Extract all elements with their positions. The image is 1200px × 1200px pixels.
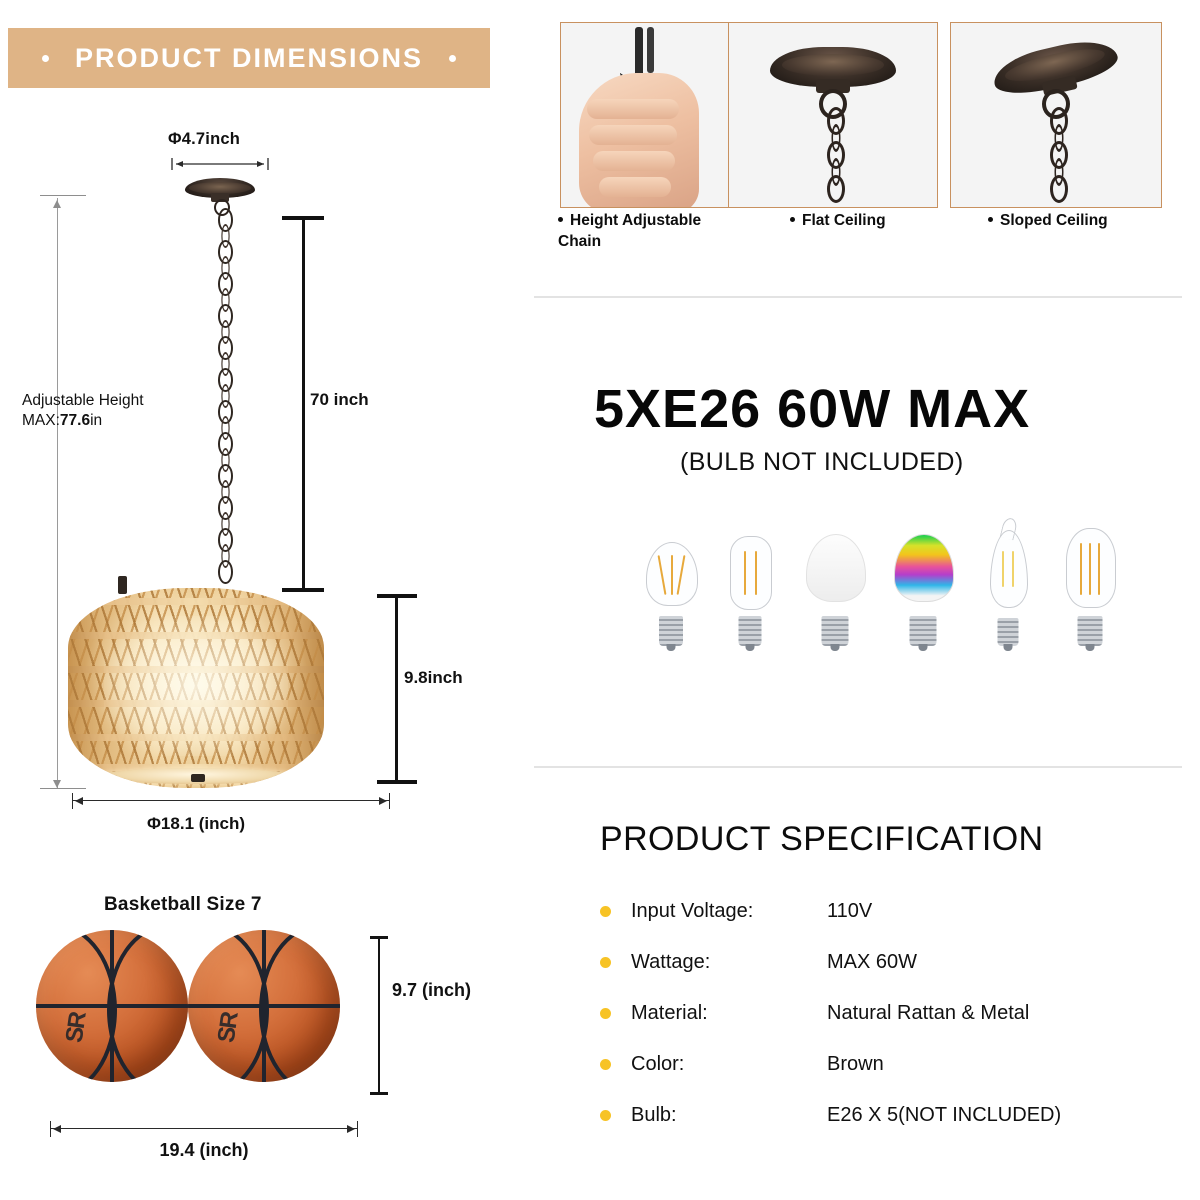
- hand-icon: [579, 73, 699, 208]
- bullet-dot-icon: [558, 217, 563, 222]
- adjustable-height-label: Adjustable Height: [22, 392, 144, 410]
- spec-value: E26 X 5(NOT INCLUDED): [827, 1104, 1061, 1127]
- ceiling-plate-icon: [770, 47, 896, 93]
- hanging-chain: [210, 208, 238, 590]
- divider-top: [534, 296, 1182, 298]
- adjustable-height-arrow-down: [53, 780, 61, 788]
- install-caption-sloped-ceiling: Sloped Ceiling: [988, 210, 1108, 231]
- spec-value: Natural Rattan & Metal: [827, 1002, 1029, 1025]
- shade-diameter-dimension: [72, 800, 390, 802]
- basketball-width-label: 19.4 (inch): [159, 1140, 248, 1161]
- install-caption-text: Flat Ceiling: [802, 212, 886, 229]
- adjustable-height-cap-bottom: [40, 788, 86, 789]
- bullet-dot-icon: [988, 217, 993, 222]
- st64-edison-bulb-icon: [1066, 528, 1114, 646]
- banner-title: PRODUCT DIMENSIONS: [75, 43, 423, 74]
- basketball-brand-mark: SR: [213, 1011, 245, 1044]
- adj-max-prefix: MAX:: [22, 412, 60, 429]
- install-caption-height-adjustable-chain: Height Adjustable Chain: [558, 210, 738, 252]
- right-column: Height Adjustable Chain Flat Ceiling Slo…: [520, 0, 1200, 1200]
- basketball-height-dimension-line: [378, 938, 380, 1094]
- rgb-smart-bulb-icon: [894, 534, 952, 646]
- dimensions-panel: PRODUCT DIMENSIONS Φ4.7inch: [0, 0, 520, 1200]
- spec-value: MAX 60W: [827, 951, 917, 974]
- product-dimensions-banner: PRODUCT DIMENSIONS: [8, 28, 490, 88]
- bullet-dot-icon: [600, 906, 611, 917]
- shade-height-dimension-line: [395, 596, 398, 782]
- adjustable-height-guide-line: [57, 198, 58, 788]
- spec-key: Color:: [631, 1053, 827, 1076]
- product-specification-title: PRODUCT SPECIFICATION: [600, 820, 1044, 859]
- drop-height-dimension-line: [302, 218, 305, 590]
- bullet-dot-icon: [600, 1059, 611, 1070]
- install-card-sloped-ceiling: [950, 22, 1162, 208]
- shade-body: [68, 588, 324, 788]
- install-caption-flat-ceiling: Flat Ceiling: [790, 210, 886, 231]
- drop-height-label: 70 inch: [310, 390, 369, 410]
- adj-max-value: 77.6: [60, 412, 90, 429]
- product-infographic: PRODUCT DIMENSIONS Φ4.7inch: [0, 0, 1200, 1200]
- adjustable-height-arrow-up: [53, 200, 61, 208]
- bulb-headline: 5XE26 60W MAX: [594, 378, 1030, 440]
- spec-row: Material: Natural Rattan & Metal: [600, 988, 1160, 1039]
- adjustable-height-cap-top: [40, 195, 86, 196]
- bullet-dot-icon: [790, 217, 795, 222]
- a19-filament-bulb-icon: [646, 542, 696, 646]
- basketball-width-dimension: [50, 1128, 358, 1130]
- bullet-dot-icon: [600, 957, 611, 968]
- spec-key: Material:: [631, 1002, 827, 1025]
- install-card-flat-ceiling: [728, 22, 938, 208]
- product-specification-list: Input Voltage: 110V Wattage: MAX 60W Mat…: [600, 886, 1160, 1141]
- rattan-shade: [68, 588, 324, 788]
- card-chain-icon: [822, 107, 844, 203]
- spec-key: Bulb:: [631, 1104, 827, 1127]
- basketball: SR: [188, 930, 340, 1082]
- banner-dot-left: [42, 55, 49, 62]
- bulb-subheadline: (BULB NOT INCLUDED): [680, 448, 964, 477]
- spec-row: Wattage: MAX 60W: [600, 937, 1160, 988]
- basketball-height-cap-top: [370, 936, 388, 939]
- shade-diameter-label: Φ18.1 (inch): [147, 814, 245, 834]
- shade-height-label: 9.8inch: [404, 668, 463, 688]
- spec-key: Input Voltage:: [631, 900, 827, 923]
- basketball-title: Basketball Size 7: [104, 894, 262, 916]
- spec-key: Wattage:: [631, 951, 827, 974]
- install-caption-text: Sloped Ceiling: [1000, 212, 1108, 229]
- drop-height-cap-bottom: [282, 588, 324, 592]
- bullet-dot-icon: [600, 1008, 611, 1019]
- spec-value: Brown: [827, 1053, 884, 1076]
- install-card-height-adjustable-chain: [560, 22, 748, 208]
- basketball: SR: [36, 930, 188, 1082]
- canopy-diameter-arrow: [170, 158, 270, 170]
- compatible-bulbs-row: [646, 516, 1146, 646]
- bullet-dot-icon: [600, 1110, 611, 1121]
- banner-dot-right: [449, 55, 456, 62]
- card-chain-icon: [1045, 107, 1067, 203]
- shade-finial: [191, 774, 205, 782]
- canopy-diameter-label: Φ4.7inch: [168, 130, 240, 149]
- adj-max-suffix: in: [90, 412, 102, 429]
- shade-height-cap-top: [377, 594, 417, 598]
- drop-height-cap-top: [282, 216, 324, 220]
- t45-tube-filament-bulb-icon: [730, 536, 770, 646]
- adjustable-height-max-label: MAX:77.6in: [22, 412, 102, 430]
- spec-value: 110V: [827, 900, 872, 923]
- spec-row: Input Voltage: 110V: [600, 886, 1160, 937]
- shade-weave-pattern: [68, 588, 324, 788]
- a19-frosted-led-bulb-icon: [806, 534, 864, 646]
- basketball-height-label: 9.7 (inch): [392, 980, 471, 1001]
- spec-row: Bulb: E26 X 5(NOT INCLUDED): [600, 1090, 1160, 1141]
- flame-tip-candle-bulb-icon: [990, 530, 1026, 646]
- divider-bottom: [534, 766, 1182, 768]
- spec-row: Color: Brown: [600, 1039, 1160, 1090]
- install-caption-text: Height Adjustable Chain: [558, 212, 701, 250]
- basketball-height-cap-bottom: [370, 1092, 388, 1095]
- shade-height-cap-bottom: [377, 780, 417, 784]
- ceiling-canopy: [185, 178, 255, 204]
- basketball-brand-mark: SR: [61, 1011, 93, 1044]
